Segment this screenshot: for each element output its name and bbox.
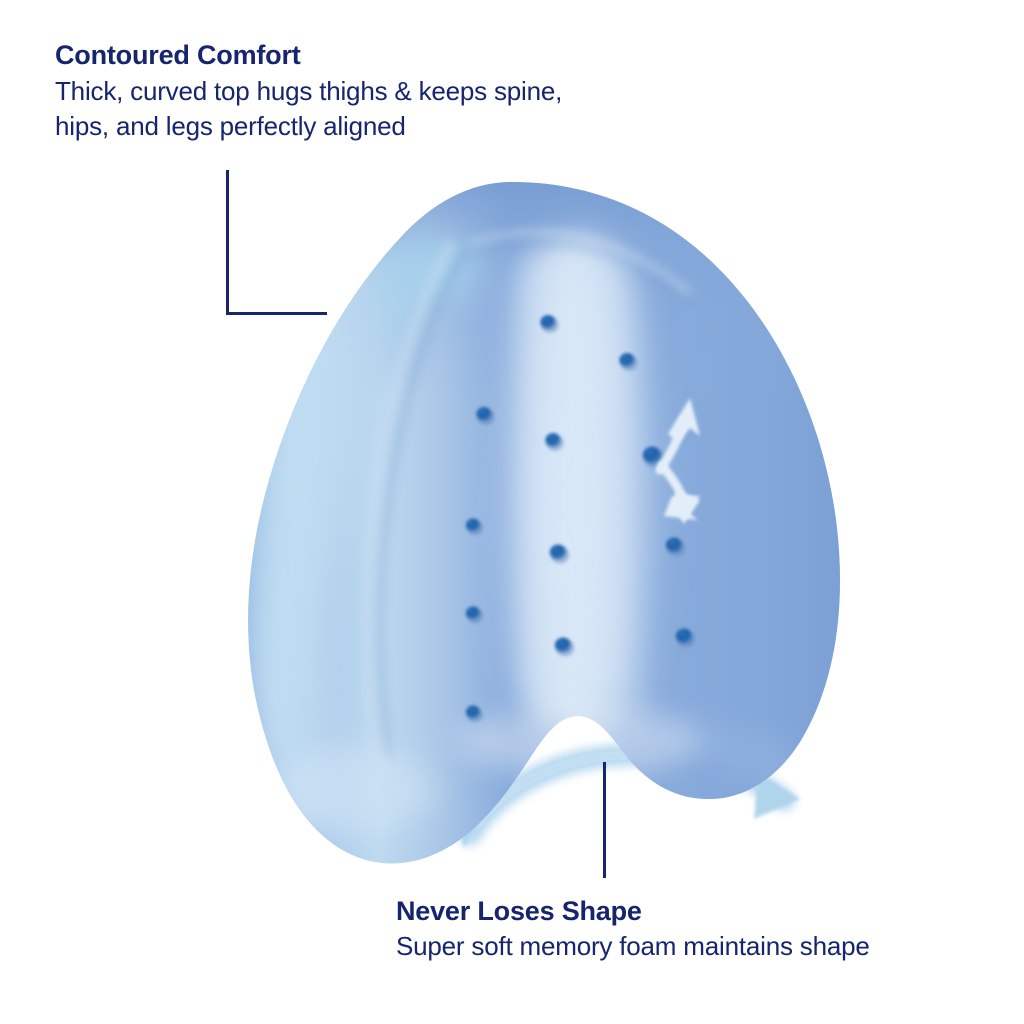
vent-hole: [477, 407, 492, 421]
ventilation-holes-group: [466, 315, 695, 722]
vent-hole: [676, 629, 692, 644]
vent-hole-shadow: [667, 540, 685, 557]
callout-top-body-line-1: Thick, curved top hugs thighs & keeps sp…: [55, 74, 755, 109]
vent-hole-shadow: [677, 631, 695, 648]
top-callout-leader-horizontal: [226, 312, 327, 315]
vent-hole-shadow: [541, 317, 558, 333]
vent-hole: [666, 538, 682, 553]
callout-contoured-comfort: Contoured Comfort Thick, curved top hugs…: [55, 40, 755, 144]
vent-hole: [541, 315, 556, 329]
top-callout-leader-vertical: [226, 170, 229, 315]
infographic-canvas: Contoured Comfort Thick, curved top hugs…: [0, 0, 1024, 1024]
vent-hole-shadow: [467, 609, 483, 624]
pillow-body: [230, 160, 880, 864]
vent-hole-shadow: [546, 435, 563, 451]
callout-top-headline: Contoured Comfort: [55, 40, 755, 72]
vent-hole: [555, 638, 571, 653]
vent-hole-shadow: [467, 521, 483, 536]
vent-hole: [550, 545, 566, 560]
vent-hole: [466, 607, 480, 620]
airflow-arrows-group: [660, 398, 700, 524]
vent-hole-shadow: [551, 547, 569, 564]
vent-hole: [620, 353, 635, 367]
vent-hole-shadow: [467, 708, 483, 723]
vent-hole-shadow: [556, 640, 574, 657]
vent-hole-shadow: [644, 449, 665, 468]
vent-hole-shadow: [477, 409, 494, 425]
vent-hole: [466, 519, 480, 532]
vent-hole: [643, 447, 661, 464]
callout-bottom-body-line-1: Super soft memory foam maintains shape: [396, 929, 1016, 964]
vent-hole: [466, 706, 480, 719]
bottom-callout-leader-vertical: [603, 762, 606, 878]
callout-top-body-line-2: hips, and legs perfectly aligned: [55, 109, 755, 144]
knee-pillow-illustration: [0, 0, 1024, 1024]
vent-hole: [546, 433, 561, 447]
callout-bottom-headline: Never Loses Shape: [396, 896, 1016, 928]
callout-never-loses-shape: Never Loses Shape Super soft memory foam…: [396, 896, 1016, 964]
memory-foam-rebound-arrow: [455, 755, 800, 848]
vent-hole-shadow: [620, 355, 637, 371]
